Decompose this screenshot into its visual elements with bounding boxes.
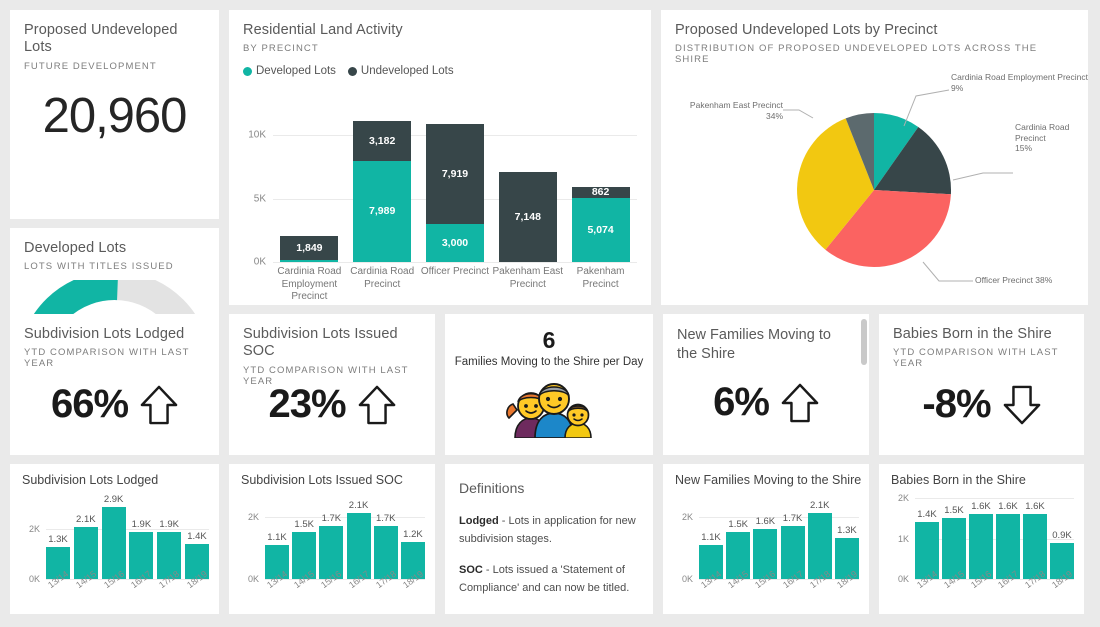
callout-value: 34% [679, 111, 783, 122]
x-axis-labels: 13/14 14/15 15/16 16/17 17/18 18/19 [46, 582, 209, 592]
bar-value-label: 1.6K [971, 501, 991, 512]
definition-term: Lodged [459, 515, 499, 527]
card-header: Babies Born in the Shire YTD COMPARISON … [879, 314, 1084, 369]
pie-svg [661, 10, 1088, 305]
x-axis-tick: Cardinia Road Employment Precinct [273, 266, 346, 304]
families-count: 6 [445, 314, 653, 354]
bar-value-label: 1.5K [728, 519, 748, 530]
definition-soc: SOC - Lots issued a 'Statement of Compli… [459, 561, 637, 597]
bar-column[interactable]: 2.1K [74, 504, 98, 579]
card-subtitle: BY PRECINCT [243, 43, 637, 54]
card-babies-born-kpi[interactable]: Babies Born in the Shire YTD COMPARISON … [879, 314, 1084, 455]
bar-value-label: 1.3K [837, 525, 857, 536]
card-title: Babies Born in the Shire [893, 326, 1070, 343]
y-axis-tick: 2K [248, 512, 259, 522]
bar-segment-developed[interactable]: 5,074 [572, 198, 630, 262]
x-axis-tick: Pakenham Precinct [564, 266, 637, 304]
bar-group[interactable]: 7,148 [499, 110, 557, 262]
bar-segment-undeveloped[interactable]: 7,148 [499, 172, 557, 263]
legend-label: Undeveloped Lots [361, 65, 454, 77]
card-header: Subdivision Lots Issued SOC YTD COMPARIS… [229, 314, 435, 387]
bars-container: 1.1K 1.5K 1.7K 2.1K [265, 504, 425, 579]
plot-area: 0K 1K 2K 1.4K 1.5K 1.6K [915, 498, 1074, 579]
y-axis-tick: 0K [254, 257, 266, 268]
dashboard-row-top: Proposed Undeveloped Lots FUTURE DEVELOP… [10, 10, 1090, 305]
bar-value-label: 2.1K [349, 500, 369, 511]
bar-value-label: 1,849 [296, 242, 322, 254]
bar-segment-undeveloped[interactable]: 862 [572, 187, 630, 198]
kpi-value-row: 23% [229, 382, 435, 427]
y-axis-tick: 0K [898, 574, 909, 584]
vertical-scrollbar[interactable] [861, 319, 867, 365]
bar-column[interactable]: 2.1K [808, 504, 832, 579]
bar-segment-developed[interactable]: 7,989 [353, 161, 411, 262]
stacked-bar-chart: 0K 5K 10K 1,849 [229, 100, 651, 305]
card-title: New Families Moving to the Shire [677, 326, 855, 364]
arrow-up-icon [358, 384, 396, 426]
card-title: Residential Land Activity [243, 22, 637, 39]
kpi-value: 20,960 [10, 88, 219, 144]
bar-value-label: 0.9K [1052, 530, 1072, 541]
bar-column[interactable]: 1.1K [699, 504, 723, 579]
dashboard-row-mini-charts: Subdivision Lots Lodged 0K 2K 1.3K 2.1K [10, 464, 1090, 614]
bar-column[interactable]: 1.5K [292, 504, 316, 579]
card-subdivision-lots-soc-kpi[interactable]: Subdivision Lots Issued SOC YTD COMPARIS… [229, 314, 435, 455]
bar-value-label: 1.3K [48, 534, 68, 545]
bar-column[interactable]: 1.4K [185, 504, 209, 579]
card-proposed-by-precinct[interactable]: Proposed Undeveloped Lots by Precinct DI… [661, 10, 1088, 305]
callout-label: Cardinia Road Employment Precinct [951, 72, 1088, 83]
card-title: Babies Born in the Shire [879, 464, 1084, 487]
bar-group[interactable]: 7,919 3,000 [426, 110, 484, 262]
card-definitions[interactable]: Definitions Lodged - Lots in application… [445, 464, 653, 614]
kpi-value-row: -8% [879, 382, 1084, 427]
bar-value-label: 2.1K [76, 514, 96, 525]
bar-value-label: 1.7K [783, 513, 803, 524]
bar-column[interactable]: 1.6K [996, 498, 1020, 579]
bar-value-label: 1.1K [701, 532, 721, 543]
card-title: Subdivision Lots Lodged [10, 464, 219, 487]
bar-value-label: 1.4K [917, 509, 937, 520]
chart-legend: Developed Lots Undeveloped Lots [243, 65, 637, 77]
card-header: Proposed Undeveloped Lots FUTURE DEVELOP… [10, 10, 219, 72]
dashboard-row-kpis: Subdivision Lots Lodged YTD COMPARISON W… [10, 314, 1090, 455]
pie-callout-officer: Officer Precinct 38% [975, 275, 1085, 286]
bar-column[interactable]: 1.4K [915, 498, 939, 579]
callout-label: Cardinia Road Precinct [1015, 122, 1088, 143]
y-axis-tick: 5K [254, 193, 266, 204]
bar-segment-undeveloped[interactable]: 3,182 [353, 121, 411, 161]
card-title: Subdivision Lots Issued SOC [243, 326, 421, 361]
bar-value-label: 1.4K [187, 531, 207, 542]
bar-column[interactable]: 1.1K [265, 504, 289, 579]
card-mini-subdivision-lots-soc[interactable]: Subdivision Lots Issued SOC 0K 2K 1.1K 1… [229, 464, 435, 614]
bars-container: 1.4K 1.5K 1.6K 1.6K [915, 498, 1074, 579]
bar-column[interactable]: 1.7K [319, 504, 343, 579]
legend-swatch-icon [243, 67, 252, 76]
x-axis-tick: Pakenham East Precinct [491, 266, 564, 304]
definition-lodged: Lodged - Lots in application for new sub… [459, 512, 637, 548]
bar-column[interactable]: 1.7K [374, 504, 398, 579]
bars-container: 1.3K 2.1K 2.9K 1.9K [46, 504, 209, 579]
callout-value: 9% [951, 83, 1088, 94]
card-subtitle: LOTS WITH TITLES ISSUED [24, 261, 205, 272]
plot-area: 0K 2K 1.1K 1.5K 1.6K [699, 504, 859, 579]
bar-column[interactable]: 1.2K [401, 504, 425, 579]
card-mini-subdivision-lots-lodged[interactable]: Subdivision Lots Lodged 0K 2K 1.3K 2.1K [10, 464, 219, 614]
bar-column[interactable]: 1.6K [753, 504, 777, 579]
bar-value-label: 1.6K [756, 516, 776, 527]
bar-value-label: 1.6K [1025, 501, 1045, 512]
bar-value-label: 1.5K [294, 519, 314, 530]
families-caption: Families Moving to the Shire per Day [445, 356, 653, 368]
card-title: Subdivision Lots Lodged [24, 326, 205, 343]
card-title: Developed Lots [24, 240, 205, 257]
bar-value-label: 7,989 [369, 205, 395, 217]
family-group-icon [445, 382, 653, 438]
kpi-value: 23% [268, 382, 345, 427]
page-title: Proposed Undeveloped Lots [24, 22, 205, 57]
bar-segment-undeveloped[interactable]: 1,849 [280, 236, 338, 259]
bar-value-label: 7,919 [442, 168, 468, 180]
bar-value-label: 1.7K [322, 513, 342, 524]
y-axis-tick: 2K [898, 493, 909, 503]
y-axis-tick: 0K [29, 574, 40, 584]
bar-value-label: 1.6K [998, 501, 1018, 512]
kpi-value-row: 66% [10, 382, 219, 427]
card-title: Definitions [445, 464, 653, 496]
card-subdivision-lots-lodged-kpi[interactable]: Subdivision Lots Lodged YTD COMPARISON W… [10, 314, 219, 455]
definitions-body: Lodged - Lots in application for new sub… [445, 496, 653, 598]
card-mini-babies-born[interactable]: Babies Born in the Shire 0K 1K 2K 1.4K 1… [879, 464, 1084, 614]
card-families-per-day[interactable]: 6 Families Moving to the Shire per Day [445, 314, 653, 455]
bars-container: 1,849 3,182 7,989 [273, 110, 637, 262]
pie-callout-pakenham-east: Pakenham East Precinct 34% [679, 100, 783, 121]
x-axis-labels: 13/14 14/15 15/16 16/17 17/18 18/19 [915, 582, 1074, 592]
bar-group[interactable]: 3,182 7,989 [353, 110, 411, 262]
pie-callout-cardinia-road-employment: Cardinia Road Employment Precinct 9% [951, 72, 1088, 93]
kpi-value: -8% [922, 382, 990, 427]
bar-value-label: 1.5K [944, 505, 964, 516]
x-axis-labels: 13/14 14/15 15/16 16/17 17/18 18/19 [265, 582, 425, 592]
bar-column[interactable]: 1.6K [1023, 498, 1047, 579]
arrow-down-icon [1003, 384, 1041, 426]
bar-segment-developed[interactable]: 3,000 [426, 224, 484, 262]
y-axis-tick: 1K [898, 534, 909, 544]
bar-value-label: 7,148 [515, 211, 541, 223]
kpi-value-row: 6% [663, 380, 869, 425]
bar-column[interactable]: 1.5K [726, 504, 750, 579]
legend-item-developed-lots[interactable]: Developed Lots [243, 65, 336, 77]
card-header: New Families Moving to the Shire [663, 314, 869, 364]
arrow-up-icon [140, 384, 178, 426]
pie-callout-cardinia-road: Cardinia Road Precinct 15% [1015, 122, 1088, 154]
x-axis-tick: Officer Precinct [419, 266, 492, 304]
card-title: New Families Moving to the Shire [663, 464, 869, 487]
kpi-value: 6% [713, 380, 769, 425]
legend-label: Developed Lots [256, 65, 336, 77]
bar-value-label: 2.1K [810, 500, 830, 511]
bar-value-label: 1.7K [376, 513, 396, 524]
bar-column[interactable]: 1.5K [942, 498, 966, 579]
card-proposed-undeveloped-lots[interactable]: Proposed Undeveloped Lots FUTURE DEVELOP… [10, 10, 219, 219]
card-header: Developed Lots LOTS WITH TITLES ISSUED [10, 228, 219, 272]
card-subtitle: YTD COMPARISON WITH LAST YEAR [24, 347, 205, 369]
bar-value-label: 1.1K [267, 532, 287, 543]
bar-group[interactable]: 1,849 [280, 110, 338, 262]
x-axis-labels: Cardinia Road Employment Precinct Cardin… [273, 266, 637, 304]
plot-area: 0K 2K 1.1K 1.5K 1.7K [265, 504, 425, 579]
legend-item-undeveloped-lots[interactable]: Undeveloped Lots [348, 65, 454, 77]
card-header: Residential Land Activity BY PRECINCT De… [229, 10, 651, 77]
x-axis-labels: 13/14 14/15 15/16 16/17 17/18 18/19 [699, 582, 859, 592]
dashboard-root: Proposed Undeveloped Lots FUTURE DEVELOP… [0, 0, 1100, 627]
bar-value-label: 3,000 [442, 237, 468, 249]
bar-value-label: 1.9K [159, 519, 179, 530]
card-new-families-kpi[interactable]: New Families Moving to the Shire 6% [663, 314, 869, 455]
y-axis-tick: 0K [682, 574, 693, 584]
y-axis-tick: 10K [248, 130, 266, 141]
bar-column[interactable]: 1.9K [157, 504, 181, 579]
bar-group[interactable]: 862 5,074 [572, 110, 630, 262]
arrow-up-icon [781, 382, 819, 424]
bar-value-label: 2.9K [104, 494, 124, 505]
bar-segment-developed[interactable] [280, 260, 338, 263]
definition-text: - Lots issued a 'Statement of Compliance… [459, 564, 629, 594]
bar-value-label: 1.9K [132, 519, 152, 530]
y-axis-tick: 0K [248, 574, 259, 584]
callout-label: Pakenham East Precinct [679, 100, 783, 111]
card-mini-new-families[interactable]: New Families Moving to the Shire 0K 2K 1… [663, 464, 869, 614]
plot-area: 0K 2K 1.3K 2.1K 2.9K [46, 504, 209, 579]
left-kpi-column: Proposed Undeveloped Lots FUTURE DEVELOP… [10, 10, 219, 305]
bar-column[interactable]: 1.9K [129, 504, 153, 579]
y-axis-tick: 2K [29, 524, 40, 534]
card-subtitle: YTD COMPARISON WITH LAST YEAR [893, 347, 1070, 369]
kpi-value: 66% [51, 382, 128, 427]
callout-label: Officer Precinct 38% [975, 275, 1085, 286]
bar-column[interactable]: 1.6K [969, 498, 993, 579]
bars-container: 1.1K 1.5K 1.6K 1.7K [699, 504, 859, 579]
bar-value-label: 1.2K [403, 529, 423, 540]
bar-value-label: 862 [592, 186, 610, 198]
bar-column[interactable]: 1.3K [46, 504, 70, 579]
bar-column[interactable]: 0.9K [1050, 498, 1074, 579]
pie-chart: Cardinia Road Employment Precinct 9% Car… [661, 10, 1088, 305]
card-subtitle: FUTURE DEVELOPMENT [24, 61, 205, 72]
card-title: Subdivision Lots Issued SOC [229, 464, 435, 487]
x-axis-tick: Cardinia Road Precinct [346, 266, 419, 304]
card-residential-land-activity[interactable]: Residential Land Activity BY PRECINCT De… [229, 10, 651, 305]
bar-column[interactable]: 1.3K [835, 504, 859, 579]
card-header: Subdivision Lots Lodged YTD COMPARISON W… [10, 314, 219, 369]
callout-value: 15% [1015, 143, 1088, 154]
definition-term: SOC [459, 564, 483, 576]
y-axis-tick: 2K [682, 512, 693, 522]
plot-area: 0K 5K 10K 1,849 [273, 110, 637, 262]
bar-value-label: 5,074 [587, 224, 613, 236]
bar-value-label: 3,182 [369, 135, 395, 147]
legend-swatch-icon [348, 67, 357, 76]
bar-segment-undeveloped[interactable]: 7,919 [426, 124, 484, 224]
